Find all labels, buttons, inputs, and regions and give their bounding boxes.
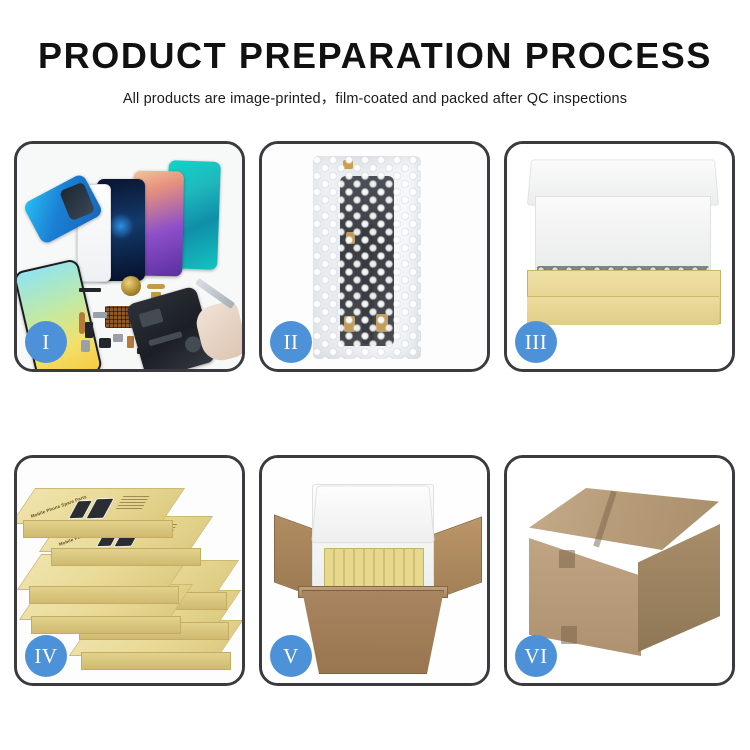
yellow-box-front-icon (527, 296, 719, 325)
carton-tape-lower-icon (561, 626, 577, 644)
process-step-panel-6[interactable]: VI Sealed brown shipping carton ready fo… (504, 455, 735, 686)
yellow-boxes-inside-icon (324, 548, 424, 590)
carton-tape-upper-icon (559, 550, 575, 568)
speaker-coil-icon (121, 276, 141, 296)
step-badge-4: IV (25, 635, 67, 677)
bubble-wrap-bag-icon (313, 156, 421, 359)
foam-backing-icon (535, 196, 711, 276)
step-badge-5: V (270, 635, 312, 677)
process-step-panel-2[interactable]: II Individual part sealed inside a bubbl… (259, 141, 490, 372)
step-badge-3: III (515, 321, 557, 363)
process-step-panel-3[interactable]: III Bubble wrapped parts placed in a yel… (504, 141, 735, 372)
page-subtitle: All products are image-printed，film-coat… (0, 87, 750, 108)
page-header: PRODUCT PREPARATION PROCESS All products… (0, 0, 750, 108)
step-badge-6: VI (515, 635, 557, 677)
step-badge-2: II (270, 321, 312, 363)
process-step-panel-5[interactable]: V Boxes loaded into a foam-lined shippin… (259, 455, 490, 686)
process-step-panel-1[interactable]: I Mobile phone screens, protective films… (14, 141, 245, 372)
shipping-carton-open-icon (302, 590, 444, 674)
styrofoam-lid-icon (311, 485, 435, 543)
step-badge-1: I (25, 321, 67, 363)
process-step-panel-4[interactable]: Mobile Phone Spare Parts Mobile Phone Sp… (14, 455, 245, 686)
page-title: PRODUCT PREPARATION PROCESS (0, 38, 750, 74)
process-step-grid: I Mobile phone screens, protective films… (14, 141, 736, 686)
